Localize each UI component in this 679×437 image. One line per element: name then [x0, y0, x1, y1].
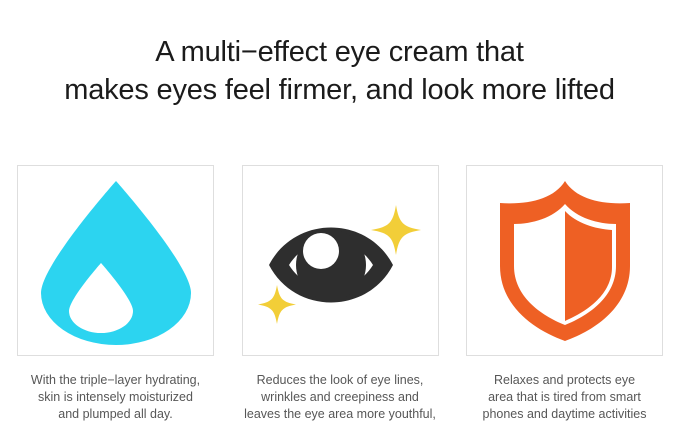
feature-protection: Relaxes and protects eye area that is ti… — [465, 165, 664, 423]
caption-line-3: phones and daytime activities — [459, 406, 671, 423]
icon-card-hydration — [17, 165, 214, 356]
shield-icon — [494, 178, 636, 344]
water-droplet-icon — [41, 177, 191, 345]
caption-line-1: Reduces the look of eye lines, — [234, 372, 446, 389]
caption-line-1: With the triple−layer hydrating, — [10, 372, 222, 389]
caption-line-3: leaves the eye area more youthful, — [234, 406, 446, 423]
sparkling-eye-icon — [255, 177, 425, 345]
icon-card-protection — [466, 165, 663, 356]
feature-eye-lines: Reduces the look of eye lines, wrinkles … — [241, 165, 440, 423]
caption-line-2: wrinkles and creepiness and — [234, 389, 446, 406]
icon-card-eye-lines — [242, 165, 439, 356]
feature-hydration: With the triple−layer hydrating, skin is… — [16, 165, 215, 423]
sparkle-bottom-left-icon — [258, 285, 296, 324]
headline-line-2: makes eyes feel firmer, and look more li… — [0, 71, 679, 109]
caption-line-3: and plumped all day. — [10, 406, 222, 423]
headline-line-1: A multi−effect eye cream that — [0, 33, 679, 71]
caption-protection: Relaxes and protects eye area that is ti… — [459, 372, 671, 423]
promo-infographic: A multi−effect eye cream that makes eyes… — [0, 0, 679, 437]
feature-row: With the triple−layer hydrating, skin is… — [16, 165, 664, 423]
caption-line-2: skin is intensely moisturized — [10, 389, 222, 406]
caption-line-1: Relaxes and protects eye — [459, 372, 671, 389]
caption-line-2: area that is tired from smart — [459, 389, 671, 406]
page-title: A multi−effect eye cream that makes eyes… — [0, 33, 679, 109]
caption-eye-lines: Reduces the look of eye lines, wrinkles … — [234, 372, 446, 423]
caption-hydration: With the triple−layer hydrating, skin is… — [10, 372, 222, 423]
